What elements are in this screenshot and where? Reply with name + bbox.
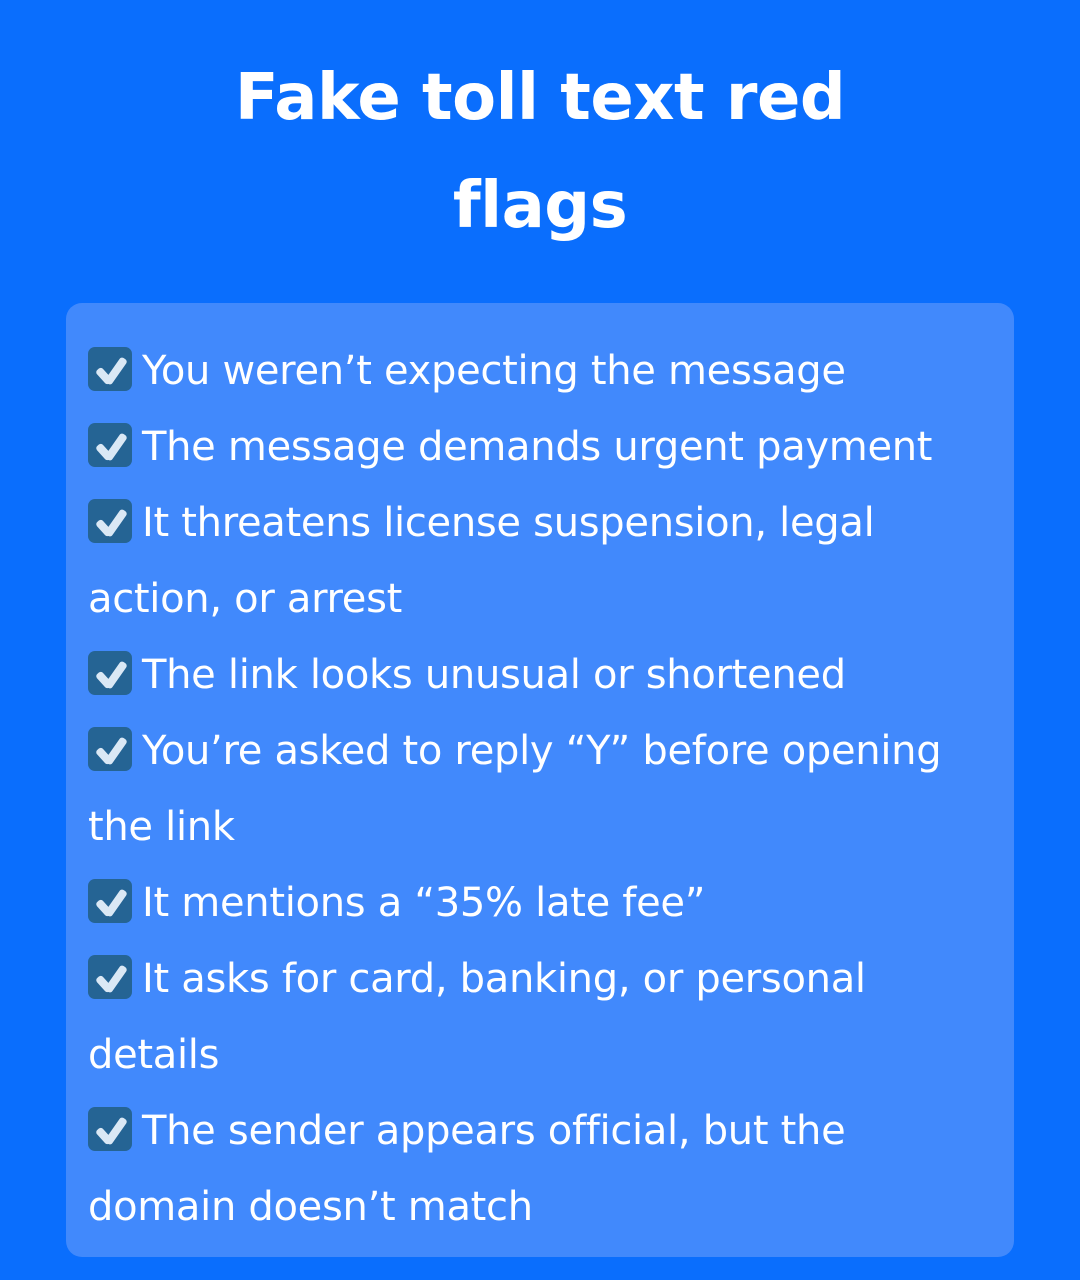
check-icon — [88, 879, 132, 923]
check-icon — [88, 499, 132, 543]
check-icon — [88, 1107, 132, 1151]
list-item-label: You’re asked to reply “Y” before opening… — [88, 728, 941, 850]
list-item-label: It asks for card, banking, or personal d… — [88, 956, 866, 1078]
check-icon — [88, 727, 132, 771]
list-item: You weren’t expecting the message — [88, 333, 988, 409]
check-icon — [88, 955, 132, 999]
check-icon — [88, 423, 132, 467]
page-title: Fake toll text red flags — [0, 44, 1080, 260]
list-item: It asks for card, banking, or personal d… — [88, 941, 988, 1093]
red-flags-card: You weren’t expecting the message The me… — [66, 303, 1014, 1257]
list-item: You’re asked to reply “Y” before opening… — [88, 713, 988, 865]
list-item: It mentions a “35% late fee” — [88, 865, 988, 941]
list-item-label: It mentions a “35% late fee” — [142, 880, 705, 926]
infographic-page: Fake toll text red flags You weren’t exp… — [0, 0, 1080, 1280]
red-flags-checklist: You weren’t expecting the message The me… — [88, 333, 988, 1245]
list-item: The message demands urgent payment — [88, 409, 988, 485]
list-item-label: The link looks unusual or shortened — [142, 652, 846, 698]
list-item: The sender appears official, but the dom… — [88, 1093, 988, 1245]
list-item-label: The sender appears official, but the dom… — [88, 1108, 845, 1230]
list-item: It threatens license suspension, legal a… — [88, 485, 988, 637]
check-icon — [88, 347, 132, 391]
list-item-label: It threatens license suspension, legal a… — [88, 500, 874, 622]
list-item: The link looks unusual or shortened — [88, 637, 988, 713]
check-icon — [88, 651, 132, 695]
list-item-label: The message demands urgent payment — [142, 424, 932, 470]
list-item-label: You weren’t expecting the message — [142, 348, 846, 394]
